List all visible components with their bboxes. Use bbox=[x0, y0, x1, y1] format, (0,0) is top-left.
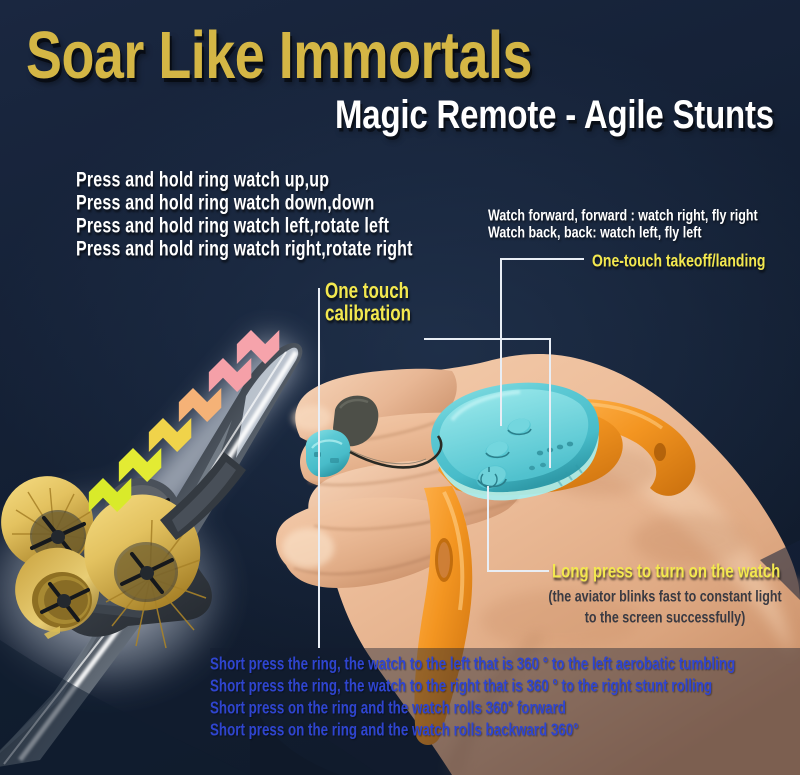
callout-long-press-note: (the aviator blinks fast to constant lig… bbox=[531, 587, 799, 628]
leader-ring-vertical bbox=[318, 288, 320, 648]
note-line-2: to the screen successfully) bbox=[531, 608, 799, 629]
left-instruction-list: Press and hold ring watch up,up Press an… bbox=[76, 170, 423, 262]
promo-graphic: Soar Like Immortals Magic Remote - Agile… bbox=[0, 0, 800, 775]
leader-takeoff-horizontal bbox=[500, 258, 584, 260]
callout-calibration-line2: calibration bbox=[325, 302, 411, 324]
left-instruction-line: Press and hold ring watch right,rotate r… bbox=[76, 239, 413, 268]
page-title: Soar Like Immortals bbox=[26, 22, 532, 89]
callout-one-touch-takeoff: One-touch takeoff/landing bbox=[592, 250, 765, 270]
right-instruction-line: Watch back, back: watch left, fly left bbox=[488, 225, 758, 246]
callout-calibration-line1: One touch bbox=[325, 279, 409, 304]
leader-longpress-horizontal bbox=[487, 570, 549, 572]
leader-longpress-vertical bbox=[487, 486, 489, 571]
callout-long-press: Long press to turn on the watch bbox=[552, 561, 780, 583]
callout-one-touch-calibration: One touch calibration bbox=[325, 280, 411, 324]
leader-calibration-vertical bbox=[549, 338, 551, 468]
leader-takeoff-vertical bbox=[500, 258, 502, 426]
page-subtitle: Magic Remote - Agile Stunts bbox=[335, 92, 774, 138]
note-line-1: (the aviator blinks fast to constant lig… bbox=[531, 587, 799, 608]
bottom-instruction-list: Short press the ring, the watch to the l… bbox=[210, 655, 740, 743]
bottom-instruction-line: Short press on the ring and the watch ro… bbox=[210, 721, 735, 750]
right-instruction-list: Watch forward, forward : watch right, fl… bbox=[488, 208, 758, 242]
leader-calibration-horizontal bbox=[424, 338, 550, 340]
